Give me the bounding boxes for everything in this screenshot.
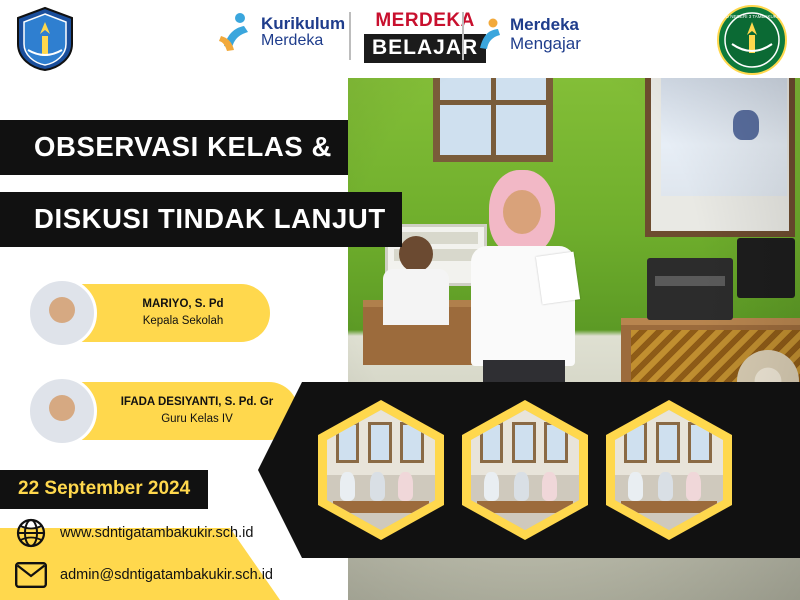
- kurikulum-line2: Merdeka: [261, 33, 345, 50]
- person-texts: IFADA DESIYANTI, S. Pd. Gr Guru Kelas IV: [108, 394, 286, 429]
- provincial-government-emblem: [14, 6, 76, 72]
- merdeka-belajar-line1: MERDEKA: [364, 10, 486, 32]
- header-logo-bar: Kurikulum Merdeka MERDEKA BELAJAR Merdek…: [0, 0, 800, 78]
- thumb-student: [370, 472, 385, 501]
- thumb-student: [398, 472, 413, 501]
- person-role: Guru Kelas IV: [108, 411, 286, 428]
- contact-website[interactable]: www.sdntigatambakukir.sch.id: [14, 516, 253, 550]
- classroom-thumb-3-image: [615, 410, 723, 530]
- thumb-desk: [333, 501, 428, 513]
- avatar-mariyo: [27, 278, 97, 348]
- classroom-thumb-1-image: [327, 410, 435, 530]
- page-title-line1: OBSERVASI KELAS &: [0, 120, 348, 175]
- event-date: 22 September 2024: [0, 470, 208, 509]
- school-emblem: SD NEGERI 3 TAMBAKUKIR: [716, 4, 788, 76]
- kurikulum-merdeka-mark: [218, 12, 252, 52]
- person-role: Kepala Sekolah: [108, 313, 258, 330]
- email-text: admin@sdntigatambakukir.sch.id: [60, 567, 273, 583]
- merdeka-mengajar-mark: [476, 18, 502, 52]
- thumb-student: [340, 472, 355, 501]
- person-texts: MARIYO, S. Pd Kepala Sekolah: [108, 296, 258, 331]
- poster-canvas: Kurikulum Merdeka MERDEKA BELAJAR Merdek…: [0, 0, 800, 600]
- envelope-icon: [14, 558, 48, 592]
- thumb-window: [544, 422, 568, 463]
- thumb-window: [368, 422, 392, 463]
- thumb-window: [336, 422, 360, 463]
- svg-text:SD NEGERI 3 TAMBAKUKIR: SD NEGERI 3 TAMBAKUKIR: [723, 14, 782, 19]
- thumb-window: [624, 422, 648, 463]
- contact-email[interactable]: admin@sdntigatambakukir.sch.id: [14, 558, 273, 592]
- thumb-student: [542, 472, 557, 501]
- kurikulum-merdeka-logo: Kurikulum Merdeka: [218, 12, 345, 52]
- kurikulum-merdeka-text: Kurikulum Merdeka: [261, 15, 345, 50]
- thumb-student: [484, 472, 499, 501]
- website-text: www.sdntigatambakukir.sch.id: [60, 525, 253, 541]
- merdeka-mengajar-logo: Merdeka Mengajar: [476, 16, 581, 53]
- person-card-principal: MARIYO, S. Pd Kepala Sekolah: [28, 284, 270, 342]
- merdeka-mengajar-line2: Mengajar: [510, 35, 581, 54]
- thumb-student: [514, 472, 529, 501]
- header-divider-1: [349, 12, 351, 60]
- merdeka-mengajar-text: Merdeka Mengajar: [510, 16, 581, 53]
- merdeka-belajar-line2: BELAJAR: [364, 34, 486, 63]
- person-name: IFADA DESIYANTI, S. Pd. Gr: [108, 394, 286, 411]
- avatar-ifada: [27, 376, 97, 446]
- thumb-student: [686, 472, 701, 501]
- thumb-desk: [621, 501, 716, 513]
- thumb-student: [658, 472, 673, 501]
- thumb-window: [400, 422, 424, 463]
- merdeka-mengajar-line1: Merdeka: [510, 16, 581, 35]
- person-name: MARIYO, S. Pd: [108, 296, 258, 313]
- thumb-window: [512, 422, 536, 463]
- classroom-thumb-2-image: [471, 410, 579, 530]
- thumb-window: [688, 422, 712, 463]
- header-divider-2: [462, 12, 464, 60]
- thumb-window: [480, 422, 504, 463]
- thumb-window: [656, 422, 680, 463]
- thumb-desk: [477, 501, 572, 513]
- page-title-line2: DISKUSI TINDAK LANJUT: [0, 192, 402, 247]
- merdeka-belajar-logo: MERDEKA BELAJAR: [364, 10, 486, 63]
- globe-icon: [14, 516, 48, 550]
- thumb-student: [628, 472, 643, 501]
- kurikulum-line1: Kurikulum: [261, 15, 345, 33]
- person-card-teacher: IFADA DESIYANTI, S. Pd. Gr Guru Kelas IV: [28, 382, 298, 440]
